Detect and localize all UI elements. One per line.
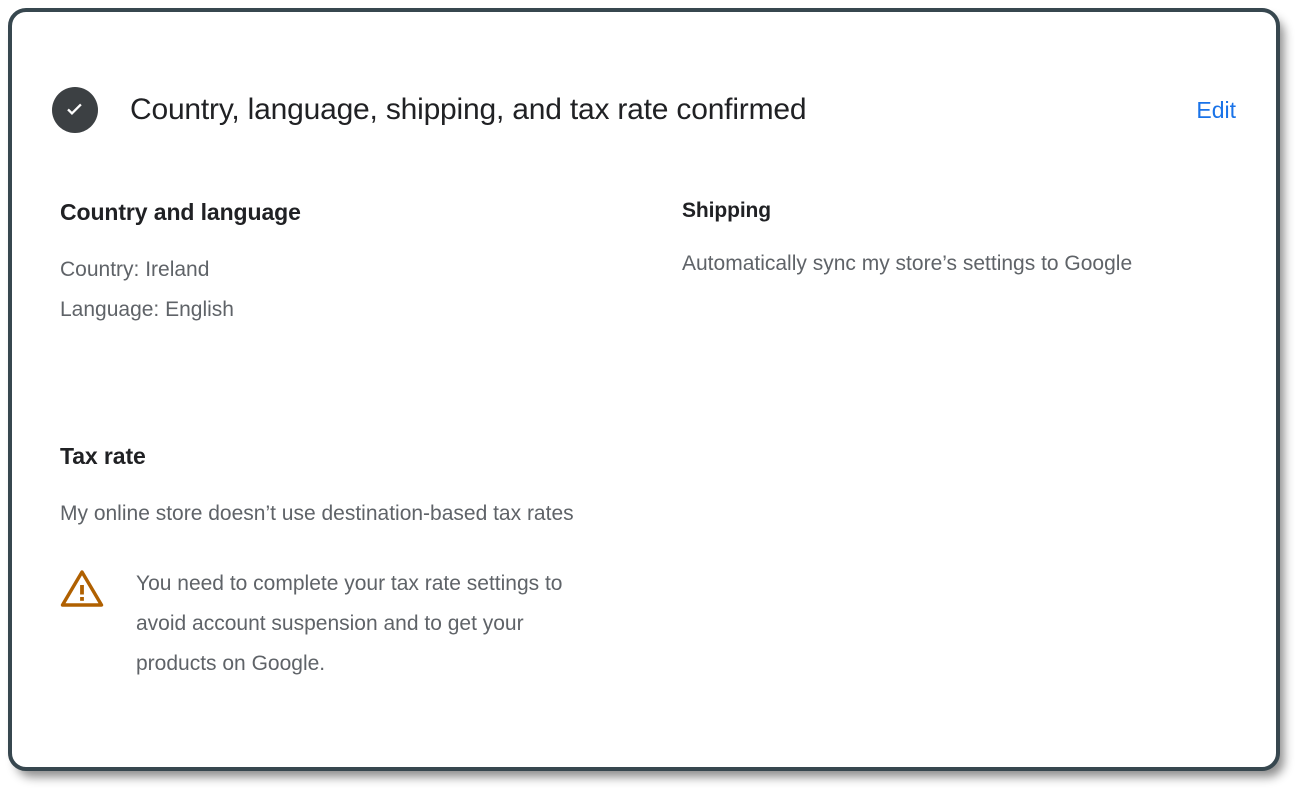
tax-rate-value: My online store doesn’t use destination-… [60, 494, 580, 534]
section-tax-rate: Tax rate My online store doesn’t use des… [60, 442, 640, 684]
screenshot-root: Country, language, shipping, and tax rat… [0, 0, 1296, 800]
page-title: Country, language, shipping, and tax rat… [130, 92, 1180, 128]
tax-rate-warning: You need to complete your tax rate setti… [60, 564, 600, 684]
right-column: Shipping Automatically sync my store’s s… [682, 198, 1242, 284]
edit-button[interactable]: Edit [1180, 96, 1236, 124]
shipping-value: Automatically sync my store’s settings t… [682, 244, 1212, 284]
section-spacer [60, 330, 640, 442]
tax-rate-heading: Tax rate [60, 442, 640, 470]
country-value: Country: Ireland [60, 250, 640, 290]
card-header: Country, language, shipping, and tax rat… [52, 84, 1236, 136]
left-column: Country and language Country: Ireland La… [60, 198, 640, 684]
check-circle-icon [52, 87, 98, 133]
language-value: Language: English [60, 290, 640, 330]
shipping-heading: Shipping [682, 198, 1242, 224]
country-language-heading: Country and language [60, 198, 640, 226]
confirmation-card: Country, language, shipping, and tax rat… [8, 8, 1280, 771]
warning-triangle-icon [60, 568, 104, 608]
section-country-language: Country and language Country: Ireland La… [60, 198, 640, 330]
warning-message: You need to complete your tax rate setti… [136, 564, 600, 684]
section-shipping: Shipping Automatically sync my store’s s… [682, 198, 1242, 284]
